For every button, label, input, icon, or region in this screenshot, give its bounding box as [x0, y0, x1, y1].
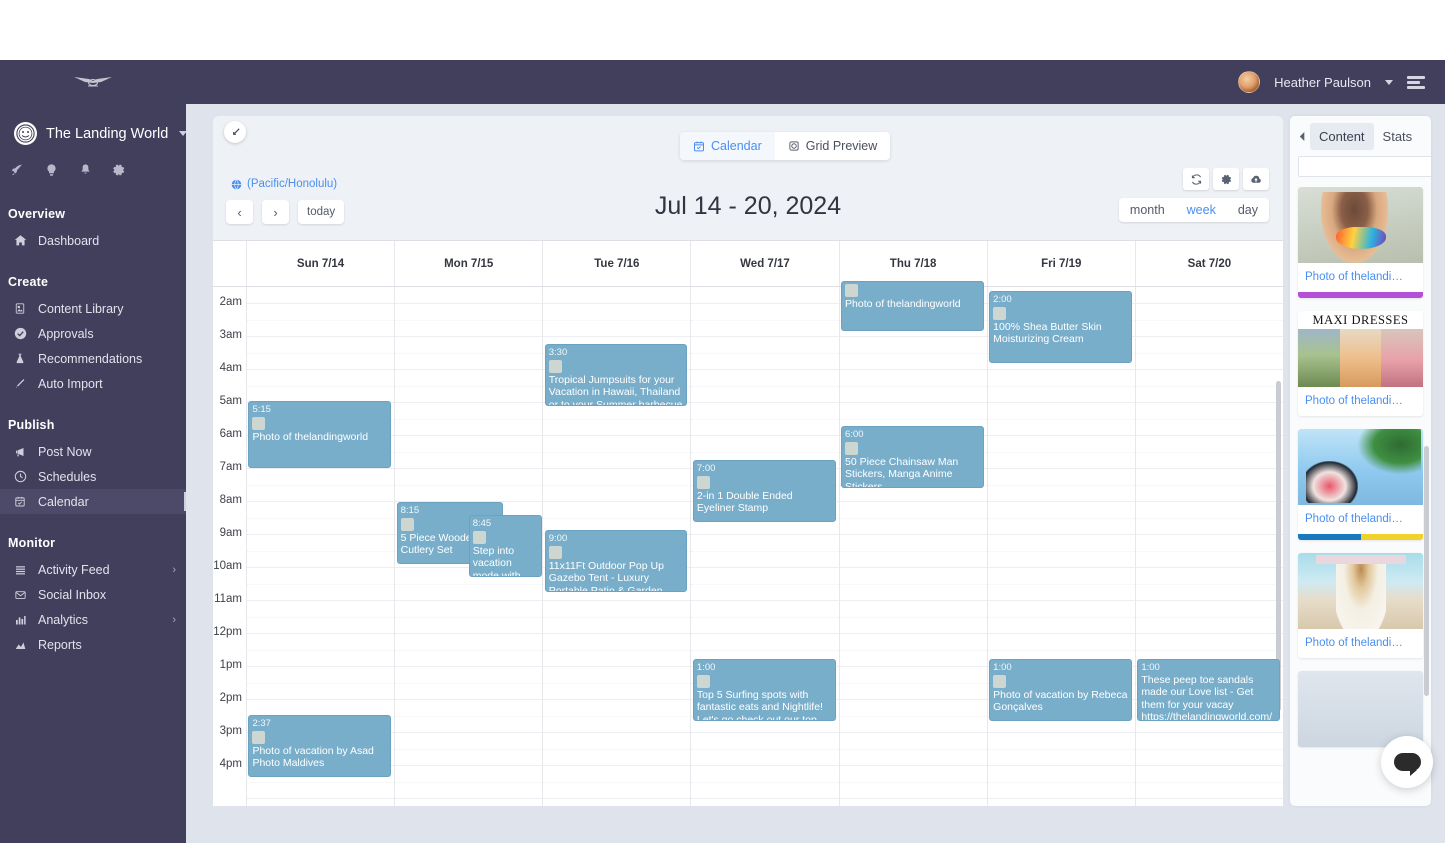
sidebar-item-label: Content Library	[38, 302, 123, 316]
hour-line	[1136, 369, 1283, 370]
hour-line	[247, 666, 394, 667]
half-hour-line	[543, 419, 690, 420]
calendar-event[interactable]: 9:0011x11Ft Outdoor Pop Up Gazebo Tent -…	[545, 530, 688, 592]
sidebar-item-dashboard[interactable]: Dashboard	[0, 228, 186, 253]
calendar-icon	[693, 140, 705, 152]
sidebar-item-recommendations[interactable]: Recommendations	[0, 346, 186, 371]
sidebar: The Landing World	[0, 104, 186, 843]
calendar-day-label: Mon 7/15	[395, 241, 543, 286]
hour-line	[1136, 402, 1283, 403]
half-hour-line	[1136, 617, 1283, 618]
thumbnail-overlay-title: MAXI DRESSES	[1298, 313, 1423, 328]
calendar-body: 2am3am4am5am6am7am8am9am10am11am12pm1pm2…	[213, 287, 1283, 806]
time-label: 2am	[220, 296, 242, 308]
hour-line	[247, 567, 394, 568]
range-month[interactable]: month	[1119, 198, 1176, 222]
time-label: 3pm	[220, 725, 242, 737]
half-hour-line	[395, 584, 542, 585]
hour-line	[247, 336, 394, 337]
hour-line	[988, 468, 1135, 469]
hour-line	[543, 468, 690, 469]
half-hour-line	[543, 617, 690, 618]
nav-spacer	[0, 253, 186, 265]
half-hour-line	[988, 485, 1135, 486]
hour-line	[691, 798, 838, 799]
hour-line	[1136, 600, 1283, 601]
gear-icon[interactable]	[102, 157, 136, 183]
hour-line	[247, 699, 394, 700]
content-card[interactable]: Photo of thelandi…	[1298, 429, 1423, 540]
calendar-event[interactable]: 8:45Step into vacation mode with our sty…	[469, 515, 543, 577]
tab-content[interactable]: Content	[1310, 123, 1374, 150]
half-hour-line	[247, 683, 394, 684]
content-card[interactable]: MAXI DRESSESPhoto of thelandi…	[1298, 311, 1423, 416]
hour-line	[1136, 765, 1283, 766]
hour-line	[1136, 732, 1283, 733]
half-hour-line	[691, 782, 838, 783]
envelope-icon	[8, 589, 38, 601]
day-column[interactable]: 1:00These peep toe sandals made our Love…	[1136, 287, 1283, 806]
hour-line	[840, 732, 987, 733]
day-column[interactable]: 5:15Photo of thelandingworld2:37Photo of…	[247, 287, 395, 806]
calendar-day-label: Sun 7/14	[247, 241, 395, 286]
half-hour-line	[840, 650, 987, 651]
hour-line	[988, 633, 1135, 634]
view-switch: Calendar Grid Preview	[680, 132, 890, 160]
sidebar-item-label: Schedules	[38, 470, 96, 484]
app-header: Heather Paulson	[0, 60, 1445, 104]
event-thumbnail	[697, 476, 710, 489]
hour-line	[840, 798, 987, 799]
day-column[interactable]: 7:002-in 1 Double Ended Eyeliner Stamp1:…	[691, 287, 839, 806]
content-card-thumbnail	[1298, 187, 1423, 263]
sidebar-item-social-inbox[interactable]: Social Inbox	[0, 582, 186, 607]
hour-line	[395, 468, 542, 469]
hour-line	[395, 435, 542, 436]
time-label: 6am	[220, 428, 242, 440]
half-hour-line	[840, 353, 987, 354]
chevron-right-icon[interactable]: ›	[172, 564, 176, 576]
flask-icon	[8, 352, 38, 365]
calendar-event[interactable]: 2:37Photo of vacation by Asad Photo Mald…	[248, 715, 391, 777]
event-time: 8:45	[473, 518, 492, 529]
hour-line	[247, 633, 394, 634]
calendar-day-label: Tue 7/16	[543, 241, 691, 286]
event-time: 7:00	[697, 463, 716, 474]
hour-line	[543, 336, 690, 337]
event-time: 2:00	[993, 294, 1012, 305]
event-title: Photo of vacation by Rebeca Gonçalves	[993, 689, 1128, 714]
half-hour-line	[247, 584, 394, 585]
hour-line	[988, 501, 1135, 502]
hour-line	[543, 765, 690, 766]
half-hour-line	[840, 551, 987, 552]
half-hour-line	[988, 518, 1135, 519]
nav-section-create: Create	[0, 265, 186, 296]
content-panel: Content Stats Photo of thelandi…MAXI DRE…	[1290, 116, 1431, 806]
sidebar-item-approvals[interactable]: Approvals	[0, 321, 186, 346]
half-hour-line	[543, 518, 690, 519]
content-card[interactable]: Photo of thelandi…	[1298, 187, 1423, 298]
sidebar-item-label: Social Inbox	[38, 588, 106, 602]
event-thumbnail	[697, 675, 710, 688]
event-time: 9:00	[549, 533, 568, 544]
content-card-caption[interactable]: Photo of thelandi…	[1298, 387, 1423, 416]
tab-grid-preview[interactable]: Grid Preview	[775, 132, 891, 160]
sidebar-item-post-now[interactable]: Post Now	[0, 439, 186, 464]
hour-line	[840, 534, 987, 535]
event-time: 1:00	[993, 662, 1012, 673]
hour-line	[247, 369, 394, 370]
hour-line	[988, 732, 1135, 733]
hour-line	[840, 336, 987, 337]
half-hour-line	[1136, 551, 1283, 552]
half-hour-line	[1136, 485, 1283, 486]
time-label: 4pm	[220, 758, 242, 770]
hour-line	[395, 765, 542, 766]
time-gutter-header	[213, 241, 247, 286]
time-label: 5am	[220, 395, 242, 407]
event-title: Top 5 Surfing spots with fantastic eats …	[697, 689, 832, 722]
content-panel-scrollbar[interactable]	[1424, 446, 1429, 696]
half-hour-line	[543, 485, 690, 486]
half-hour-line	[1136, 320, 1283, 321]
calendar-day-header: Sun 7/14Mon 7/15Tue 7/16Wed 7/17Thu 7/18…	[213, 241, 1283, 287]
calendar-event[interactable]: 5:15Photo of thelandingworld	[248, 401, 391, 468]
browser-top-strip	[0, 0, 1445, 60]
nav-section-overview: Overview	[0, 197, 186, 228]
hour-line	[691, 435, 838, 436]
hour-line	[840, 699, 987, 700]
hour-line	[691, 402, 838, 403]
sidebar-item-label: Approvals	[38, 327, 94, 341]
avatar[interactable]	[1238, 71, 1260, 93]
check-circle-icon	[8, 327, 38, 340]
nav-section-publish: Publish	[0, 408, 186, 439]
content-card-list[interactable]: Photo of thelandi…MAXI DRESSESPhoto of t…	[1290, 187, 1431, 806]
hour-line	[247, 501, 394, 502]
event-time: 8:15	[401, 505, 420, 516]
event-title: 2-in 1 Double Ended Eyeliner Stamp	[697, 490, 832, 515]
event-thumbnail	[993, 307, 1006, 320]
half-hour-line	[247, 617, 394, 618]
hour-line	[988, 369, 1135, 370]
calendar-event[interactable]: 3:30Tropical Jumpsuits for your Vacation…	[545, 344, 688, 406]
hour-line	[543, 303, 690, 304]
tab-calendar-label: Calendar	[711, 139, 762, 153]
event-thumbnail	[549, 546, 562, 559]
half-hour-line	[988, 782, 1135, 783]
hour-line	[840, 501, 987, 502]
hour-line	[543, 732, 690, 733]
half-hour-line	[988, 584, 1135, 585]
range-day[interactable]: day	[1227, 198, 1269, 222]
hour-line	[247, 534, 394, 535]
nav-spacer	[0, 514, 186, 526]
hour-line	[395, 732, 542, 733]
bell-icon[interactable]	[68, 157, 102, 183]
chevron-right-icon[interactable]: ›	[172, 614, 176, 626]
half-hour-line	[840, 386, 987, 387]
range-switch: month week day	[1119, 198, 1269, 222]
half-hour-line	[840, 683, 987, 684]
hour-line	[988, 765, 1135, 766]
content-card-caption[interactable]: Photo of thelandi…	[1298, 263, 1423, 292]
hour-line	[1136, 303, 1283, 304]
hour-line	[1136, 798, 1283, 799]
sidebar-item-label: Activity Feed	[38, 563, 110, 577]
half-hour-line	[840, 518, 987, 519]
header-user-area: Heather Paulson	[1238, 71, 1445, 93]
cloud-upload-icon[interactable]	[1243, 168, 1269, 190]
half-hour-line	[840, 617, 987, 618]
half-hour-line	[247, 353, 394, 354]
half-hour-line	[840, 749, 987, 750]
content-card-thumbnail	[1298, 429, 1423, 505]
half-hour-line	[543, 650, 690, 651]
sidebar-item-auto-import[interactable]: Auto Import	[0, 371, 186, 396]
sidebar-item-label: Auto Import	[38, 377, 103, 391]
time-gutter: 2am3am4am5am6am7am8am9am10am11am12pm1pm2…	[213, 287, 247, 806]
half-hour-line	[395, 320, 542, 321]
nav-section-monitor: Monitor	[0, 526, 186, 557]
time-label: 3am	[220, 329, 242, 341]
timezone-row: (Pacific/Honolulu)	[231, 178, 337, 190]
calendar-day-label: Wed 7/17	[691, 241, 839, 286]
event-time: 6:00	[845, 429, 864, 440]
event-title: These peep toe sandals made our Love lis…	[1141, 674, 1276, 722]
time-label: 2pm	[220, 692, 242, 704]
event-title: Tropical Jumpsuits for your Vacation in …	[549, 374, 684, 407]
hour-line	[395, 369, 542, 370]
half-hour-line	[1136, 452, 1283, 453]
sidebar-item-reports[interactable]: Reports	[0, 632, 186, 657]
hour-line	[691, 369, 838, 370]
calendar-day-label: Sat 7/20	[1136, 241, 1283, 286]
content-card-thumbnail: MAXI DRESSES	[1298, 311, 1423, 387]
day-column[interactable]: 8:155 Piece Wooden Cutlery Set8:45Step i…	[395, 287, 543, 806]
hour-line	[691, 600, 838, 601]
refresh-icon[interactable]	[1183, 168, 1209, 190]
event-title: Photo of thelandingworld	[845, 298, 980, 311]
hour-line	[691, 336, 838, 337]
report-icon	[8, 639, 38, 651]
chat-bubble-icon[interactable]	[1381, 736, 1433, 788]
event-thumbnail	[252, 731, 265, 744]
hour-line	[840, 765, 987, 766]
rocket-icon[interactable]	[0, 157, 34, 183]
event-time: 3:30	[549, 347, 568, 358]
calendar-event[interactable]: 2:00100% Shea Butter Skin Moisturizing C…	[989, 291, 1132, 363]
hour-line	[1136, 468, 1283, 469]
home-icon	[8, 234, 38, 247]
hour-line	[1136, 534, 1283, 535]
hour-line	[543, 600, 690, 601]
calendar-event[interactable]: 7:002-in 1 Double Ended Eyeliner Stamp	[693, 460, 836, 522]
content-panel-tabs: Content Stats	[1290, 116, 1431, 156]
chevron-down-icon[interactable]	[179, 131, 186, 136]
half-hour-line	[247, 650, 394, 651]
calendar-event[interactable]: 6:0050 Piece Chainsaw Man Stickers, Mang…	[841, 426, 984, 488]
hour-line	[395, 633, 542, 634]
lightbulb-icon[interactable]	[34, 157, 68, 183]
globe-icon	[231, 179, 242, 190]
hour-line	[395, 600, 542, 601]
time-label: 1pm	[220, 659, 242, 671]
hour-line	[1136, 336, 1283, 337]
hamburger-menu-icon[interactable]	[1407, 76, 1425, 89]
half-hour-line	[691, 419, 838, 420]
half-hour-line	[691, 386, 838, 387]
hour-line	[691, 633, 838, 634]
hour-line	[988, 402, 1135, 403]
content-card-thumbnail	[1298, 553, 1423, 629]
day-column[interactable]: Photo of thelandingworld6:0050 Piece Cha…	[840, 287, 988, 806]
calendar-event[interactable]: 1:00Top 5 Surfing spots with fantastic e…	[693, 659, 836, 721]
content-card-caption[interactable]: Photo of thelandi…	[1298, 629, 1423, 658]
day-column[interactable]: 2:00100% Shea Butter Skin Moisturizing C…	[988, 287, 1136, 806]
half-hour-line	[691, 320, 838, 321]
sidebar-item-label: Calendar	[38, 495, 89, 509]
half-hour-line	[691, 650, 838, 651]
hour-line	[543, 435, 690, 436]
half-hour-line	[395, 419, 542, 420]
sidebar-item-activity-feed[interactable]: Activity Feed›	[0, 557, 186, 582]
grid-preview-icon	[788, 140, 800, 152]
hour-line	[1136, 567, 1283, 568]
event-title: Photo of thelandingworld	[252, 431, 387, 444]
calendar-event[interactable]: 1:00These peep toe sandals made our Love…	[1137, 659, 1280, 721]
hour-line	[1136, 501, 1283, 502]
hour-line	[988, 534, 1135, 535]
hour-line	[988, 600, 1135, 601]
tab-stats[interactable]: Stats	[1374, 123, 1422, 150]
half-hour-line	[691, 617, 838, 618]
event-thumbnail	[252, 417, 265, 430]
half-hour-line	[988, 617, 1135, 618]
calendar-panel: Calendar Grid Preview (Pacific/Honolulu)	[213, 116, 1283, 806]
half-hour-line	[543, 452, 690, 453]
sidebar-item-label: Post Now	[38, 445, 92, 459]
sidebar-item-label: Reports	[38, 638, 82, 652]
nav-spacer	[0, 396, 186, 408]
workspace-name: The Landing World	[46, 126, 168, 142]
event-thumbnail	[549, 360, 562, 373]
content-search	[1290, 156, 1431, 187]
day-column[interactable]: 3:30Tropical Jumpsuits for your Vacation…	[543, 287, 691, 806]
wings-logo-icon	[70, 72, 116, 92]
tab-calendar[interactable]: Calendar	[680, 132, 775, 160]
half-hour-line	[691, 452, 838, 453]
hour-line	[840, 402, 987, 403]
event-title: 100% Shea Butter Skin Moisturizing Cream	[993, 321, 1128, 346]
half-hour-line	[395, 716, 542, 717]
hour-line	[543, 501, 690, 502]
collapse-diagonal-icon[interactable]	[224, 121, 246, 143]
calendar-event[interactable]: 1:00Photo of vacation by Rebeca Gonçalve…	[989, 659, 1132, 721]
hour-line	[840, 633, 987, 634]
sidebar-nav: OverviewDashboardCreateContent LibraryAp…	[0, 197, 186, 657]
workspace-selector[interactable]: The Landing World	[0, 104, 186, 155]
time-label: 9am	[220, 527, 242, 539]
bar-chart-icon	[8, 614, 38, 626]
image-file-icon	[8, 302, 38, 315]
day-columns: 5:15Photo of thelandingworld2:37Photo of…	[247, 287, 1283, 806]
content-card[interactable]: Photo of thelandi…	[1298, 553, 1423, 658]
hour-line	[988, 567, 1135, 568]
wand-icon	[8, 377, 38, 390]
gear-icon[interactable]	[1213, 168, 1239, 190]
hour-line	[247, 600, 394, 601]
main-canvas: Calendar Grid Preview (Pacific/Honolulu)	[186, 104, 1445, 843]
event-time: 1:00	[697, 662, 716, 673]
event-title: Photo of vacation by Asad Photo Maldives	[252, 745, 387, 770]
chevron-left-icon[interactable]	[1294, 131, 1310, 142]
half-hour-line	[1136, 353, 1283, 354]
sidebar-item-label: Analytics	[38, 613, 88, 627]
hour-line	[840, 369, 987, 370]
timezone-label: (Pacific/Honolulu)	[247, 178, 337, 190]
sidebar-item-analytics[interactable]: Analytics›	[0, 607, 186, 632]
half-hour-line	[691, 584, 838, 585]
hour-line	[691, 765, 838, 766]
hour-line	[988, 798, 1135, 799]
event-thumbnail	[993, 675, 1006, 688]
sidebar-item-calendar[interactable]: Calendar	[0, 489, 186, 514]
tab-grid-preview-label: Grid Preview	[806, 139, 878, 153]
hour-line	[247, 303, 394, 304]
hour-line	[543, 666, 690, 667]
hour-line	[395, 303, 542, 304]
hour-line	[840, 666, 987, 667]
range-week[interactable]: week	[1176, 198, 1227, 222]
half-hour-line	[691, 353, 838, 354]
brand-logo[interactable]	[0, 72, 186, 92]
hour-line	[691, 303, 838, 304]
calendar-event[interactable]: Photo of thelandingworld	[841, 281, 984, 331]
half-hour-line	[247, 782, 394, 783]
app-root: Heather Paulson The Landing World	[0, 0, 1445, 843]
half-hour-line	[395, 485, 542, 486]
time-label: 4am	[220, 362, 242, 374]
hour-line	[988, 435, 1135, 436]
hour-line	[840, 600, 987, 601]
half-hour-line	[988, 386, 1135, 387]
sidebar-item-label: Dashboard	[38, 234, 99, 248]
hour-line	[247, 798, 394, 799]
sidebar-item-content-library[interactable]: Content Library	[0, 296, 186, 321]
event-time: 1:00	[1141, 662, 1160, 673]
sidebar-item-schedules[interactable]: Schedules	[0, 464, 186, 489]
content-card-accent-bar	[1298, 292, 1423, 298]
content-card-caption[interactable]: Photo of thelandi…	[1298, 505, 1423, 534]
half-hour-line	[988, 551, 1135, 552]
time-label: 10am	[213, 560, 242, 572]
half-hour-line	[247, 386, 394, 387]
half-hour-line	[395, 452, 542, 453]
workspace-avatar-icon	[14, 122, 37, 145]
search-input[interactable]	[1298, 156, 1431, 177]
time-label: 11am	[214, 593, 242, 605]
half-hour-line	[988, 749, 1135, 750]
event-thumbnail	[845, 284, 858, 297]
time-label: 12pm	[213, 626, 242, 638]
hour-line	[395, 699, 542, 700]
chevron-down-icon[interactable]	[1385, 80, 1393, 85]
half-hour-line	[395, 749, 542, 750]
event-thumbnail	[401, 518, 414, 531]
half-hour-line	[691, 749, 838, 750]
